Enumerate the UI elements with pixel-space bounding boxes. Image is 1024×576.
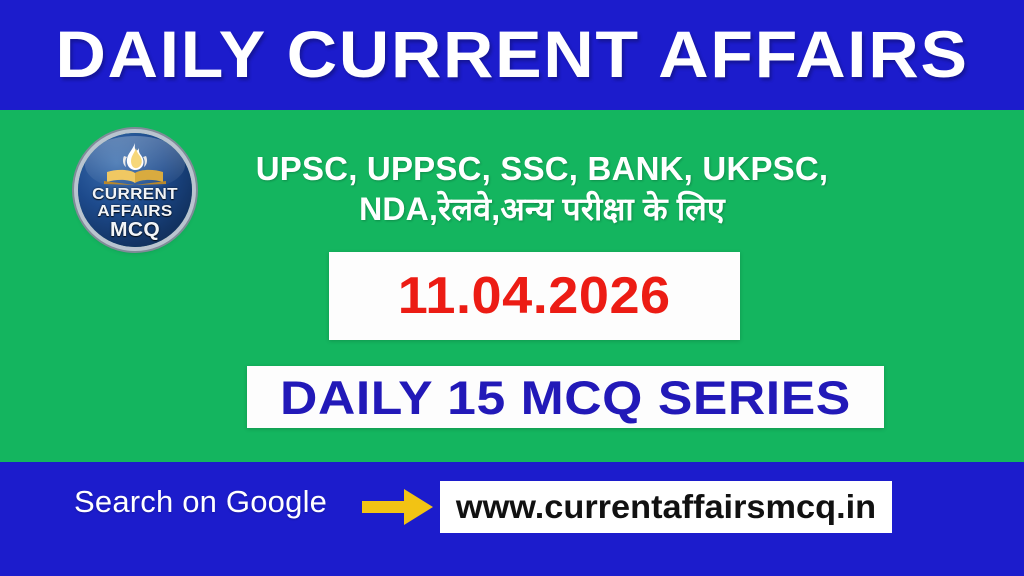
logo-line-1: CURRENT: [78, 186, 192, 204]
logo-line-3: MCQ: [78, 219, 192, 242]
series-card: DAILY 15 MCQ SERIES: [247, 366, 884, 428]
exam-list-line-1: UPSC, UPPSC, SSC, BANK, UKPSC,: [222, 148, 862, 189]
search-prompt-label: Search on Google: [74, 484, 327, 520]
date-card: 11.04.2026: [329, 252, 740, 340]
right-arrow-icon: [362, 488, 434, 526]
exam-list-line-2: NDA,रेलवे,अन्य परीक्षा के लिए: [222, 189, 862, 230]
brand-logo: CURRENT AFFAIRS MCQ: [78, 133, 192, 247]
website-url-text: www.currentaffairsmcq.in: [456, 488, 876, 526]
date-value: 11.04.2026: [398, 266, 671, 326]
website-url-card[interactable]: www.currentaffairsmcq.in: [440, 481, 892, 533]
open-book-icon: [104, 169, 166, 185]
page-title: DAILY CURRENT AFFAIRS: [0, 18, 1024, 90]
series-label: DAILY 15 MCQ SERIES: [280, 370, 851, 425]
poster-canvas: DAILY CURRENT AFFAIRS CURRENT AFFAIRS MC…: [0, 0, 1024, 576]
exam-list: UPSC, UPPSC, SSC, BANK, UKPSC, NDA,रेलवे…: [222, 148, 862, 230]
